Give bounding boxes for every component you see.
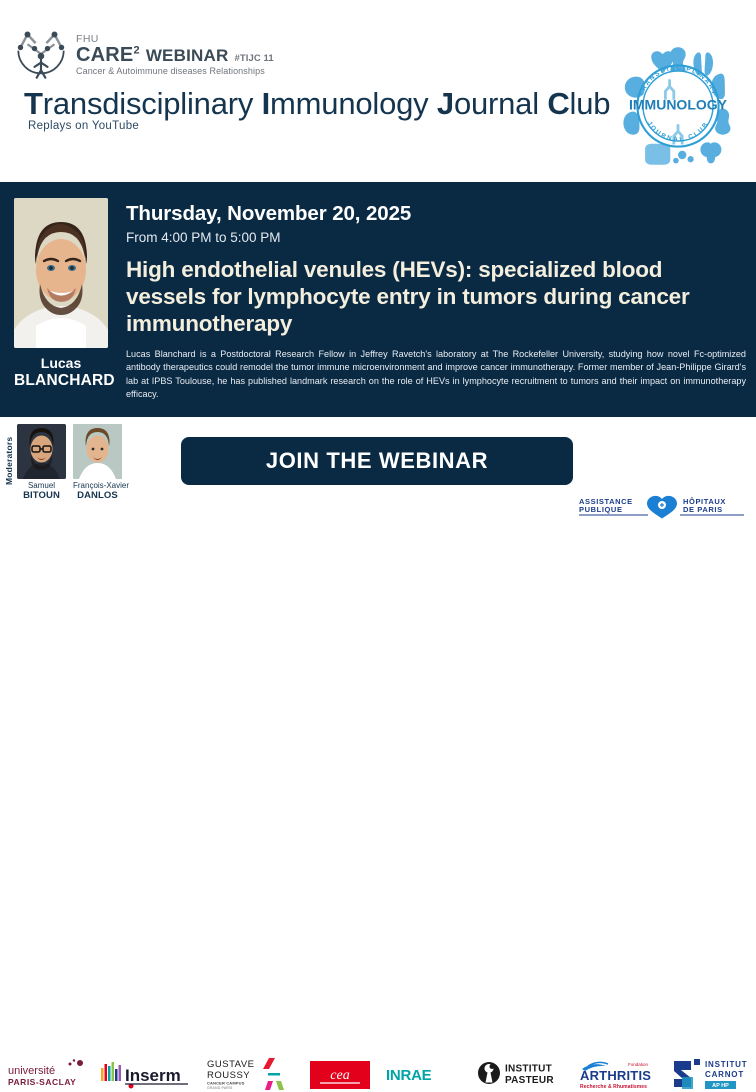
svg-text:PUBLIQUE: PUBLIQUE — [579, 505, 623, 514]
moderator-last-name: BITOUN — [17, 491, 66, 501]
event-date: Thursday, November 20, 2025 — [126, 202, 411, 226]
title-capital: C — [547, 86, 569, 121]
gustave-roussy-logo: GUSTAVE ROUSSY CANCER CAMPUS GRAND PARIS — [206, 1056, 286, 1092]
immunology-journal-club-badge: TRANSDISCIPLINARY JOURNAL CLUB IMMUNOLOG… — [608, 36, 748, 176]
svg-text:Recherche & Rhumatismes: Recherche & Rhumatismes — [580, 1084, 647, 1090]
inserm-logo: Inserm — [100, 1061, 192, 1089]
svg-text:INSTITUT: INSTITUT — [705, 1060, 747, 1069]
moderator-photo — [17, 424, 66, 479]
svg-text:cea: cea — [330, 1068, 349, 1083]
moderator-list: SamuelBITOUNFrançois-XavierDANLOS — [17, 424, 122, 501]
svg-text:PARIS-SACLAY: PARIS-SACLAY — [8, 1077, 76, 1087]
svg-text:université: université — [8, 1065, 55, 1077]
fhu-tagline: Cancer & Autoimmune diseases Relationshi… — [76, 67, 274, 76]
episode-hashtag: #TIJC 11 — [234, 54, 273, 64]
title-word: mmunology — [270, 86, 437, 121]
moderator-last-name: DANLOS — [73, 491, 122, 501]
title-word: ransdisciplinary — [43, 86, 262, 121]
webinar-poster: FHU CARE2 WEBINAR #TIJC 11 Cancer & Auto… — [0, 0, 756, 567]
svg-text:Inserm: Inserm — [125, 1066, 181, 1085]
title-capital: J — [437, 86, 454, 121]
speaker-bio: Lucas Blanchard is a Postdoctoral Resear… — [126, 348, 746, 402]
speaker-first-name: Lucas — [14, 356, 108, 372]
fondation-arthritis-logo: Fondation ARTHRITIS Recherche & Rhumatis… — [578, 1058, 666, 1092]
title-capital: I — [262, 86, 270, 121]
svg-text:GUSTAVE: GUSTAVE — [207, 1059, 255, 1070]
page-title: Transdisciplinary Immunology Journal Clu… — [24, 86, 610, 122]
svg-text:IMMUNOLOGY: IMMUNOLOGY — [629, 97, 728, 113]
universite-paris-saclay-logo: université PARIS-SACLAY — [6, 1059, 94, 1089]
svg-text:GRAND PARIS: GRAND PARIS — [207, 1086, 233, 1090]
join-webinar-button[interactable]: JOIN THE WEBINAR — [181, 437, 573, 485]
moderators-label: Moderators — [4, 426, 14, 496]
replays-note: Replays on YouTube — [28, 120, 139, 132]
aphp-logo: ASSISTANCE PUBLIQUE HÔPITAUX DE PARIS — [577, 495, 747, 520]
svg-text:INRAE: INRAE — [386, 1067, 432, 1084]
moderator-item: SamuelBITOUN — [17, 424, 66, 501]
moderator-item: François-XavierDANLOS — [73, 424, 122, 501]
poster-header: FHU CARE2 WEBINAR #TIJC 11 Cancer & Auto… — [0, 0, 756, 182]
svg-text:CANCER CAMPUS: CANCER CAMPUS — [207, 1081, 245, 1086]
svg-text:CARNOT: CARNOT — [705, 1070, 744, 1079]
speaker-last-name: BLANCHARD — [14, 372, 108, 389]
partner-logos: université PARIS-SACLAY Inserm GUSTAVE R… — [0, 527, 756, 567]
moderators-block: Moderators SamuelBITOUNFrançois-XavierDA… — [4, 424, 122, 501]
fhu-network-head-icon — [14, 28, 68, 82]
institut-pasteur-logo: INSTITUT PASTEUR — [477, 1058, 563, 1088]
speaker-block: Lucas BLANCHARD — [14, 198, 108, 389]
title-capital: T — [24, 86, 43, 121]
cea-logo: cea — [310, 1061, 370, 1089]
svg-text:PASTEUR: PASTEUR — [505, 1075, 554, 1086]
event-time: From 4:00 PM to 5:00 PM — [126, 230, 281, 245]
svg-text:AP HP: AP HP — [712, 1083, 729, 1089]
care2-wordmark: CARE2 — [76, 45, 140, 65]
webinar-wordmark: WEBINAR — [146, 47, 229, 64]
fhu-care2-logo: FHU CARE2 WEBINAR #TIJC 11 Cancer & Auto… — [14, 28, 274, 82]
svg-text:INSTITUT: INSTITUT — [505, 1064, 552, 1075]
svg-text:ARTHRITIS: ARTHRITIS — [580, 1068, 651, 1083]
event-banner: Lucas BLANCHARD Thursday, November 20, 2… — [0, 182, 756, 417]
svg-text:DE PARIS: DE PARIS — [683, 505, 723, 514]
inrae-logo: INRAE — [385, 1063, 455, 1087]
title-word: ournal — [454, 86, 547, 121]
title-word: lub — [570, 86, 611, 121]
fhu-label: FHU — [76, 34, 274, 45]
institut-carnot-aphp-logo: INSTITUT CARNOT AP HP — [672, 1057, 752, 1091]
svg-text:Fondation: Fondation — [628, 1062, 649, 1067]
svg-text:ROUSSY: ROUSSY — [207, 1070, 250, 1081]
talk-title: High endothelial venules (HEVs): special… — [126, 256, 744, 337]
speaker-photo — [14, 198, 108, 348]
moderator-photo — [73, 424, 122, 479]
